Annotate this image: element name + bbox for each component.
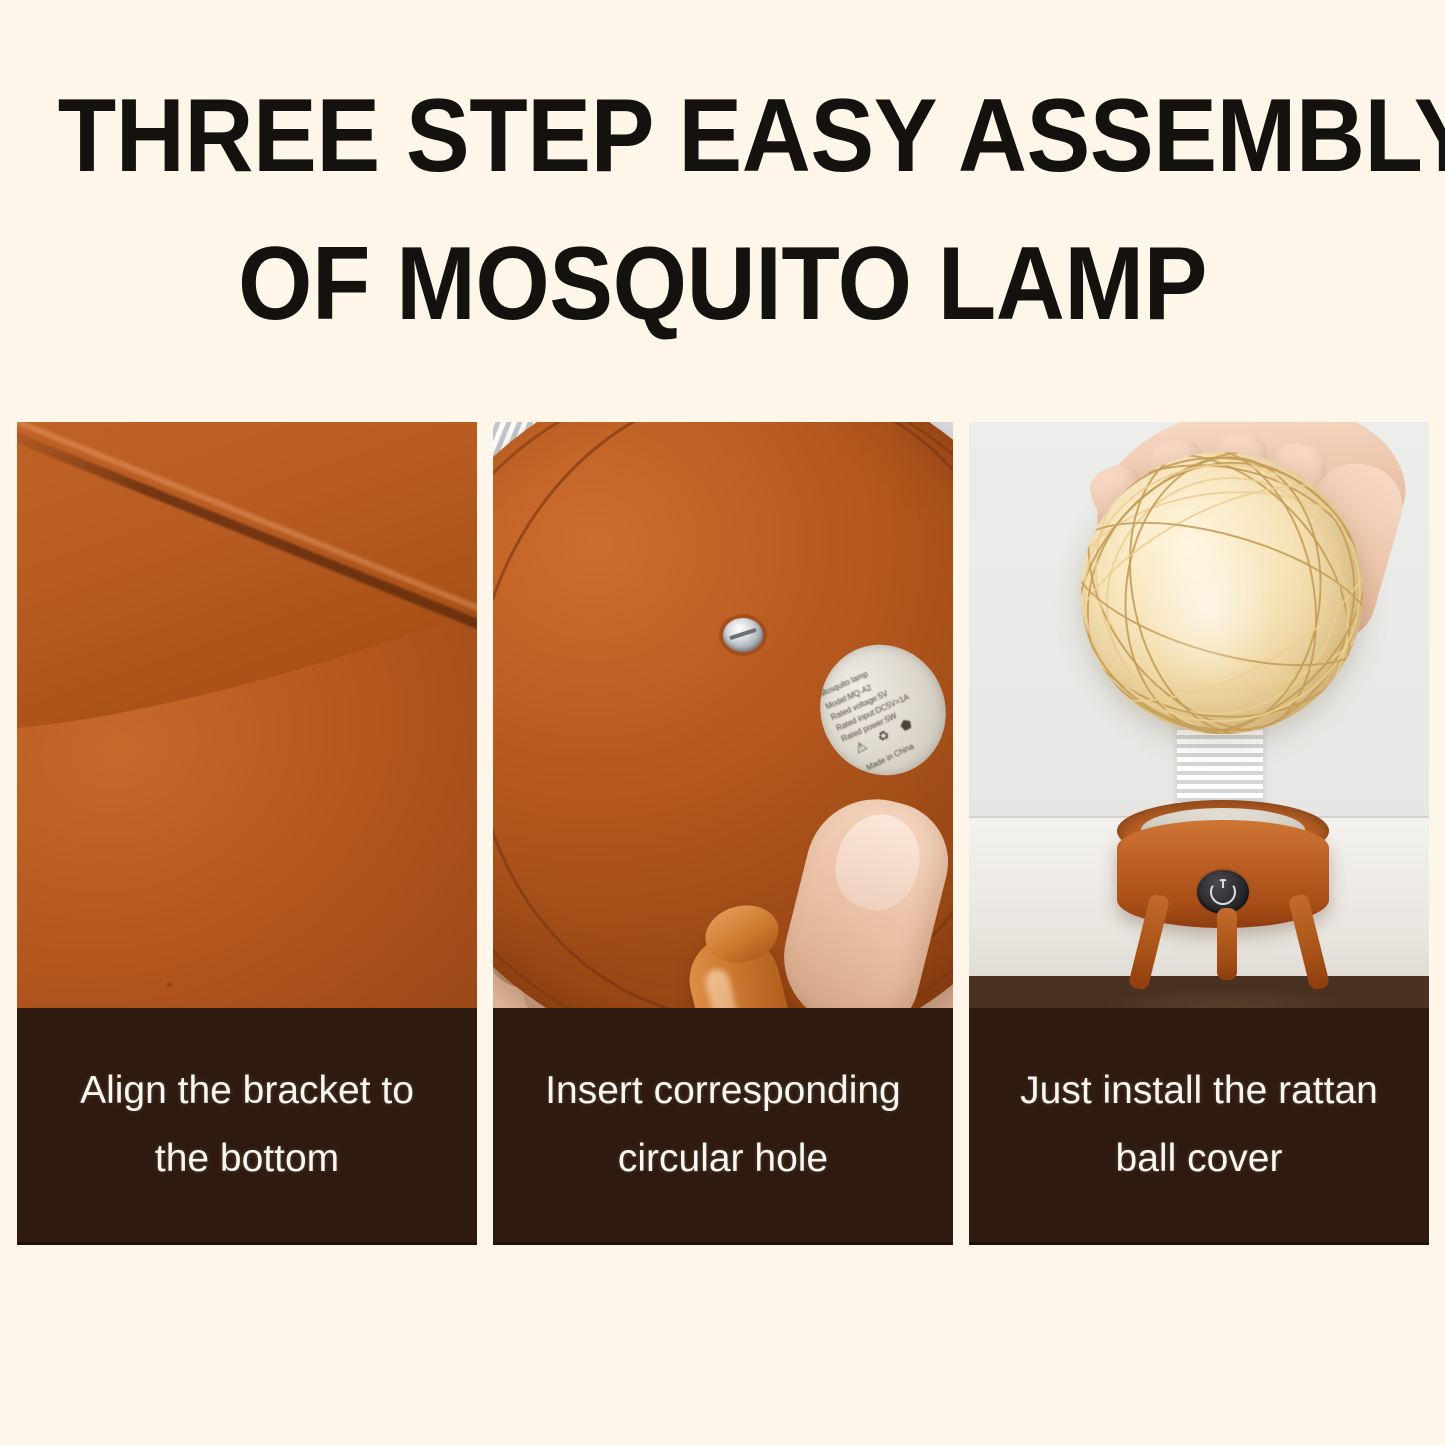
lamp-cast-shadow xyxy=(1101,988,1351,1008)
assembly-step-1: Align the bracket to the bottom xyxy=(17,422,477,1245)
page-title-line-1: THREE STEP EASY ASSEMBLY xyxy=(58,62,1387,210)
step-2-photo: Mosquito lamp Model:MQ-A2 Rated voltage:… xyxy=(493,422,953,1008)
assembly-step-2: Mosquito lamp Model:MQ-A2 Rated voltage:… xyxy=(493,422,953,1245)
step-1-photo xyxy=(17,422,477,1008)
step-3-photo xyxy=(969,422,1429,1008)
page-title-line-2: OF MOSQUITO LAMP xyxy=(58,210,1387,358)
step-2-caption-line-2: circular hole xyxy=(618,1125,828,1193)
assembly-step-3: Just install the rattan ball cover xyxy=(969,422,1429,1245)
step-1-caption-line-2: the bottom xyxy=(155,1125,339,1193)
assembly-steps-row: Align the bracket to the bottom Mosquito… xyxy=(17,422,1429,1245)
page-title: THREE STEP EASY ASSEMBLY OF MOSQUITO LAM… xyxy=(58,62,1387,358)
rattan-ball-cover xyxy=(1081,452,1363,734)
step-3-caption: Just install the rattan ball cover xyxy=(969,1008,1429,1245)
step-2-caption-line-1: Insert corresponding xyxy=(545,1057,901,1125)
surface-speck xyxy=(167,982,172,987)
step-3-caption-line-1: Just install the rattan xyxy=(1020,1057,1378,1125)
silver-screw-icon xyxy=(723,618,763,652)
step-3-caption-line-2: ball cover xyxy=(1116,1125,1283,1193)
step-2-caption: Insert corresponding circular hole xyxy=(493,1008,953,1245)
step-1-caption-line-1: Align the bracket to xyxy=(80,1057,414,1125)
power-icon xyxy=(1210,879,1236,905)
step-1-caption: Align the bracket to the bottom xyxy=(17,1008,477,1245)
lamp-leg xyxy=(1217,908,1237,980)
